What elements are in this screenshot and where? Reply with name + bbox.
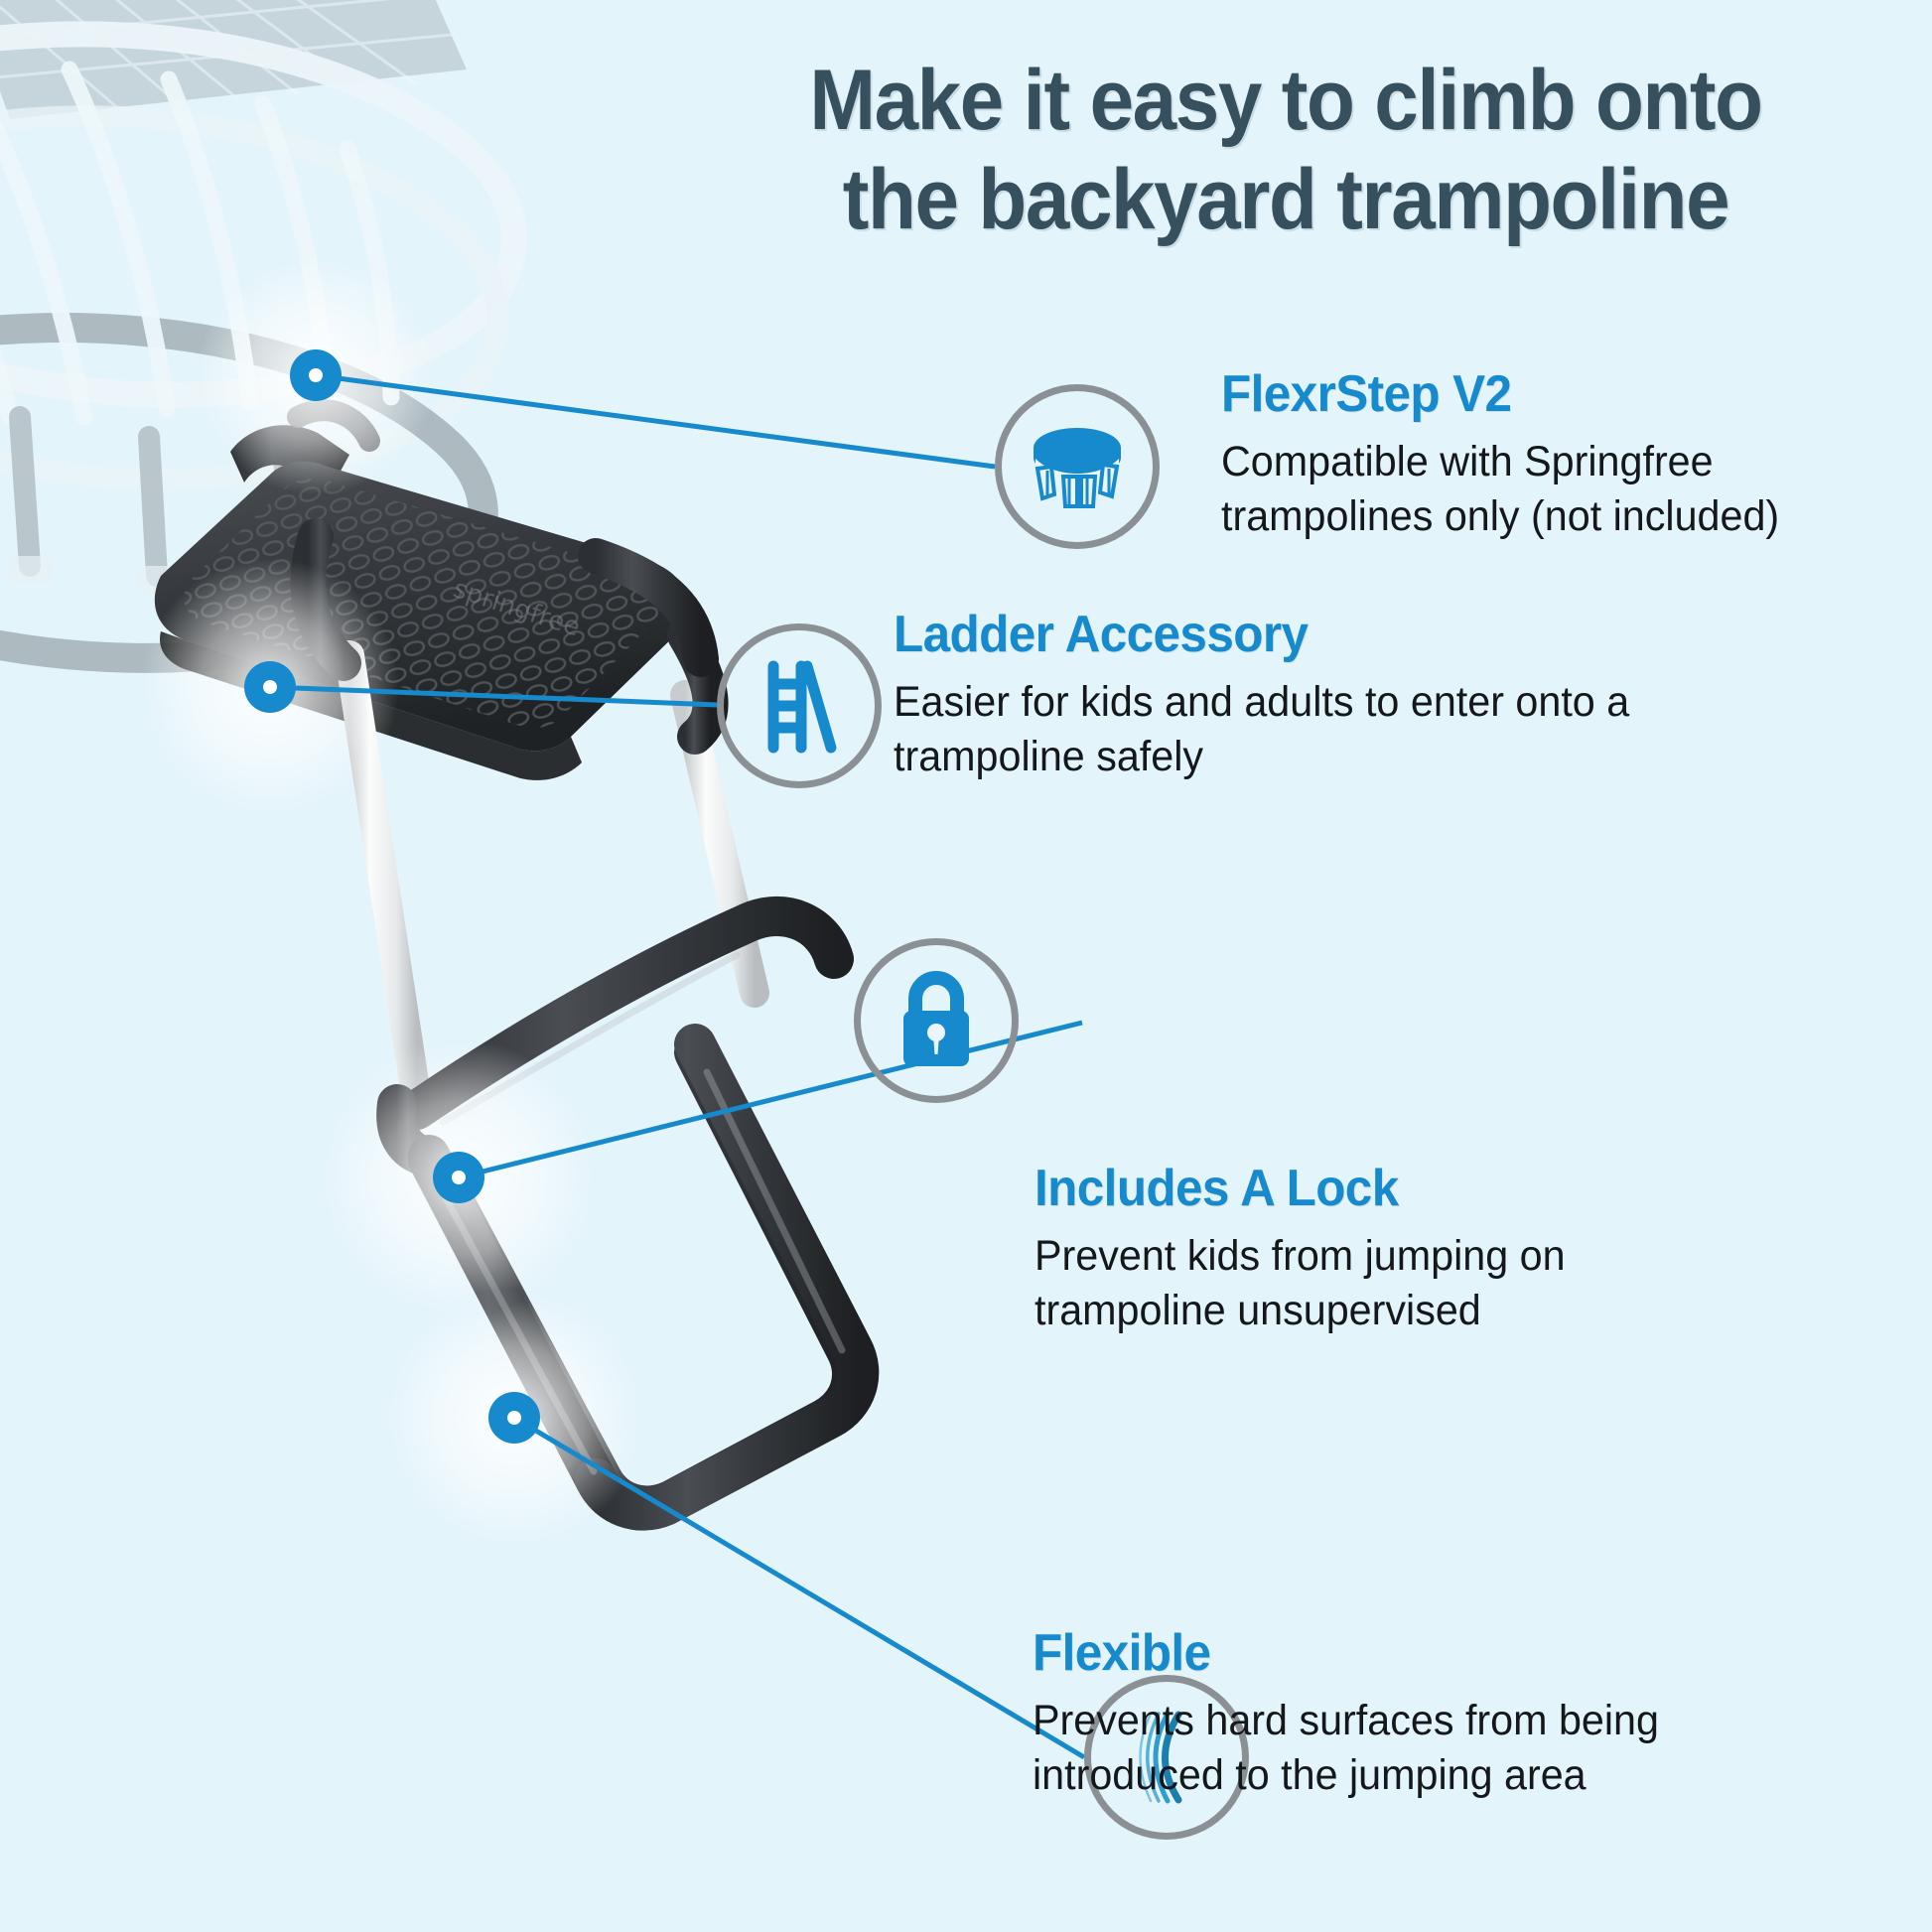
- trampoline-icon: [995, 384, 1160, 549]
- feature-text-includes-a-lock: Includes A Lock Prevent kids from jumpin…: [1035, 1162, 1908, 1339]
- feature-text-flexible: Flexible Prevents hard surfaces from bei…: [1033, 1626, 1926, 1804]
- ladder-icon: [717, 623, 882, 788]
- infographic-canvas: springfree: [0, 0, 1932, 1932]
- page-title: Make it easy to climb onto the backyard …: [737, 52, 1836, 250]
- feature-text-flexrstep-v2: FlexrStep V2 Compatible with Springfree …: [1221, 367, 1916, 545]
- feature-heading: Includes A Lock: [1035, 1162, 1864, 1216]
- feature-body-line-1: Prevent kids from jumping on: [1035, 1229, 1873, 1285]
- lock-icon: [854, 938, 1019, 1103]
- feature-body-line-2: trampolines only (not included): [1221, 489, 1888, 545]
- feature-body: Compatible with Springfree trampolines o…: [1221, 435, 1888, 546]
- feature-body-line-2: trampoline unsupervised: [1035, 1284, 1873, 1339]
- feature-heading: FlexrStep V2: [1221, 367, 1881, 422]
- feature-body: Easier for kids and adults to enter onto…: [894, 675, 1865, 786]
- feature-heading: Ladder Accessory: [894, 608, 1856, 662]
- feature-body: Prevents hard surfaces from being introd…: [1033, 1694, 1890, 1805]
- title-line-1: Make it easy to climb onto: [737, 52, 1836, 151]
- callout-dot-ladder-accessory[interactable]: [244, 661, 296, 713]
- feature-body: Prevent kids from jumping on trampoline …: [1035, 1229, 1873, 1340]
- title-line-2: the backyard trampoline: [737, 151, 1836, 250]
- feature-text-ladder-accessory: Ladder Accessory Easier for kids and adu…: [894, 608, 1906, 785]
- feature-body-line-1: Prevents hard surfaces from being: [1033, 1694, 1890, 1749]
- callout-dot-includes-a-lock[interactable]: [433, 1152, 484, 1203]
- feature-heading: Flexible: [1033, 1626, 1881, 1681]
- feature-body-line-2: trampoline safely: [894, 730, 1865, 785]
- callout-dot-flexrstep-v2[interactable]: [290, 349, 342, 401]
- feature-body-line-1: Compatible with Springfree: [1221, 435, 1888, 490]
- callout-dot-flexible[interactable]: [488, 1392, 540, 1444]
- feature-body-line-2: introduced to the jumping area: [1033, 1748, 1890, 1804]
- feature-body-line-1: Easier for kids and adults to enter onto…: [894, 675, 1865, 731]
